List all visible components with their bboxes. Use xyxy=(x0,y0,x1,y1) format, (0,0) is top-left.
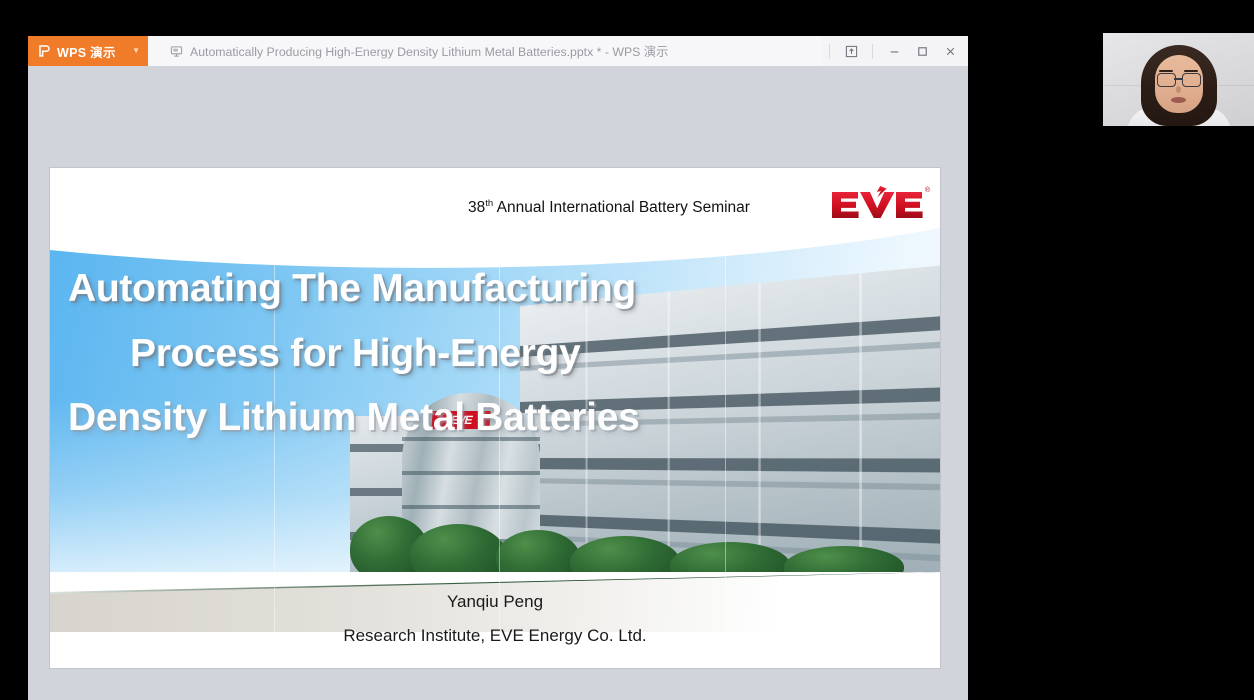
seminar-ordinal-suffix: th xyxy=(485,198,493,209)
float-window-icon[interactable] xyxy=(837,36,865,66)
slide-header-swoosh xyxy=(50,168,940,283)
minimize-icon[interactable] xyxy=(880,36,908,66)
author-name: Yanqiu Peng xyxy=(50,592,940,612)
eve-logo: ® xyxy=(830,186,926,222)
slide-title-line-3: Density Lithium Metal Batteries xyxy=(50,397,940,439)
wps-presentation-window: WPS 演示 ▼ Automatically Producing High-En… xyxy=(28,36,968,700)
seminar-title: 38th Annual International Battery Semina… xyxy=(468,198,750,217)
window-titlebar: WPS 演示 ▼ Automatically Producing High-En… xyxy=(28,36,968,66)
maximize-icon[interactable] xyxy=(908,36,936,66)
seminar-title-text: Annual International Battery Seminar xyxy=(493,199,750,216)
author-affiliation: Research Institute, EVE Energy Co. Ltd. xyxy=(50,626,940,646)
glasses-bridge xyxy=(1174,78,1182,80)
presenter-video-thumbnail[interactable] xyxy=(1103,33,1254,126)
glasses-lens-left xyxy=(1157,73,1176,87)
document-tab-title: Automatically Producing High-Energy Dens… xyxy=(190,42,668,60)
chevron-down-icon[interactable]: ▼ xyxy=(132,47,140,55)
presentation-file-icon xyxy=(170,45,183,58)
presenter-mouth xyxy=(1171,97,1186,103)
screen: WPS 演示 ▼ Automatically Producing High-En… xyxy=(0,0,1254,700)
presenter-eyebrow-left xyxy=(1159,70,1173,72)
slide-title-block: Automating The Manufacturing Process for… xyxy=(50,268,940,439)
slide-workspace: EVE xyxy=(28,66,968,700)
glasses-lens-right xyxy=(1182,73,1201,87)
wps-p-logo-icon xyxy=(36,44,51,59)
seminar-ordinal: 38 xyxy=(468,199,485,216)
slide-canvas[interactable]: EVE xyxy=(50,168,940,668)
slide-author-block: Yanqiu Peng Research Institute, EVE Ener… xyxy=(50,592,940,646)
presenter-nose xyxy=(1176,86,1181,93)
registered-trademark-symbol: ® xyxy=(925,187,930,194)
close-icon[interactable] xyxy=(936,36,964,66)
slide-title-line-1: Automating The Manufacturing xyxy=(50,268,940,310)
slide-title-line-2: Process for High-Energy xyxy=(50,333,940,375)
wps-app-tab-label: WPS 演示 xyxy=(57,42,116,61)
wps-app-tab[interactable]: WPS 演示 ▼ xyxy=(28,36,148,66)
document-tab[interactable]: Automatically Producing High-Energy Dens… xyxy=(148,36,822,66)
presenter-eyebrow-right xyxy=(1184,70,1198,72)
divider xyxy=(872,44,873,59)
window-controls xyxy=(822,36,968,66)
divider xyxy=(829,44,830,59)
